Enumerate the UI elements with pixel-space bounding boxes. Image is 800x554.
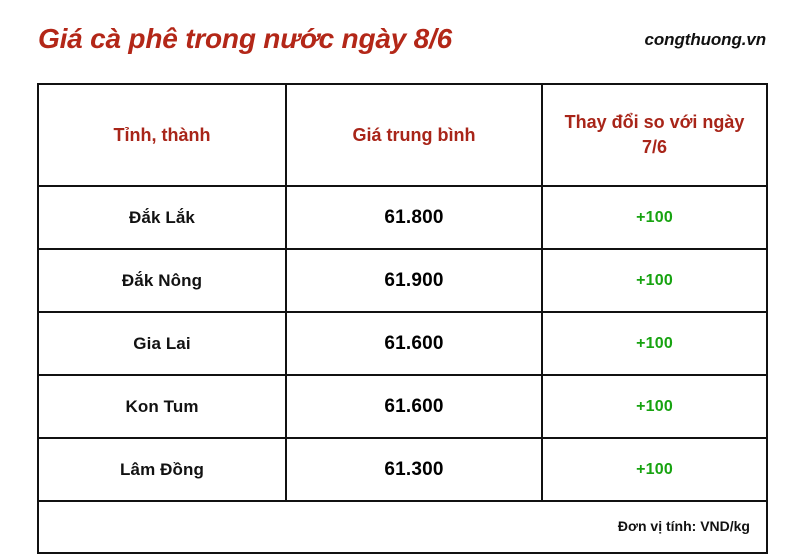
table-header-row: Tỉnh, thành Giá trung bình Thay đổi so v… <box>38 84 767 186</box>
unit-note: Đơn vị tính: VND/kg <box>618 518 750 534</box>
cell-change: +100 <box>542 312 767 375</box>
table-row: Kon Tum 61.600 +100 <box>38 375 767 438</box>
table-footer-row: Đơn vị tính: VND/kg <box>38 501 767 553</box>
cell-change: +100 <box>542 186 767 249</box>
cell-province: Đắk Nông <box>38 249 286 312</box>
page-header: Giá cà phê trong nước ngày 8/6 congthuon… <box>0 0 800 83</box>
page-title: Giá cà phê trong nước ngày 8/6 <box>38 24 452 59</box>
cell-change: +100 <box>542 249 767 312</box>
cell-price: 61.900 <box>286 249 542 312</box>
column-header-province: Tỉnh, thành <box>38 84 286 186</box>
cell-province: Gia Lai <box>38 312 286 375</box>
table-row: Gia Lai 61.600 +100 <box>38 312 767 375</box>
site-watermark: congthuong.vn <box>645 30 766 54</box>
cell-price: 61.600 <box>286 375 542 438</box>
cell-price: 61.300 <box>286 438 542 501</box>
cell-price: 61.800 <box>286 186 542 249</box>
footer-cell: Đơn vị tính: VND/kg <box>38 501 767 553</box>
cell-province: Lâm Đồng <box>38 438 286 501</box>
table-row: Đắk Nông 61.900 +100 <box>38 249 767 312</box>
column-header-average-price: Giá trung bình <box>286 84 542 186</box>
price-table: Tỉnh, thành Giá trung bình Thay đổi so v… <box>37 83 768 554</box>
cell-price: 61.600 <box>286 312 542 375</box>
coffee-price-table-page: Giá cà phê trong nước ngày 8/6 congthuon… <box>0 0 800 533</box>
cell-province: Kon Tum <box>38 375 286 438</box>
cell-change: +100 <box>542 438 767 501</box>
price-table-container: Tỉnh, thành Giá trung bình Thay đổi so v… <box>37 83 766 554</box>
column-header-change: Thay đổi so với ngày 7/6 <box>542 84 767 186</box>
cell-change: +100 <box>542 375 767 438</box>
table-row: Đắk Lắk 61.800 +100 <box>38 186 767 249</box>
cell-province: Đắk Lắk <box>38 186 286 249</box>
table-row: Lâm Đồng 61.300 +100 <box>38 438 767 501</box>
